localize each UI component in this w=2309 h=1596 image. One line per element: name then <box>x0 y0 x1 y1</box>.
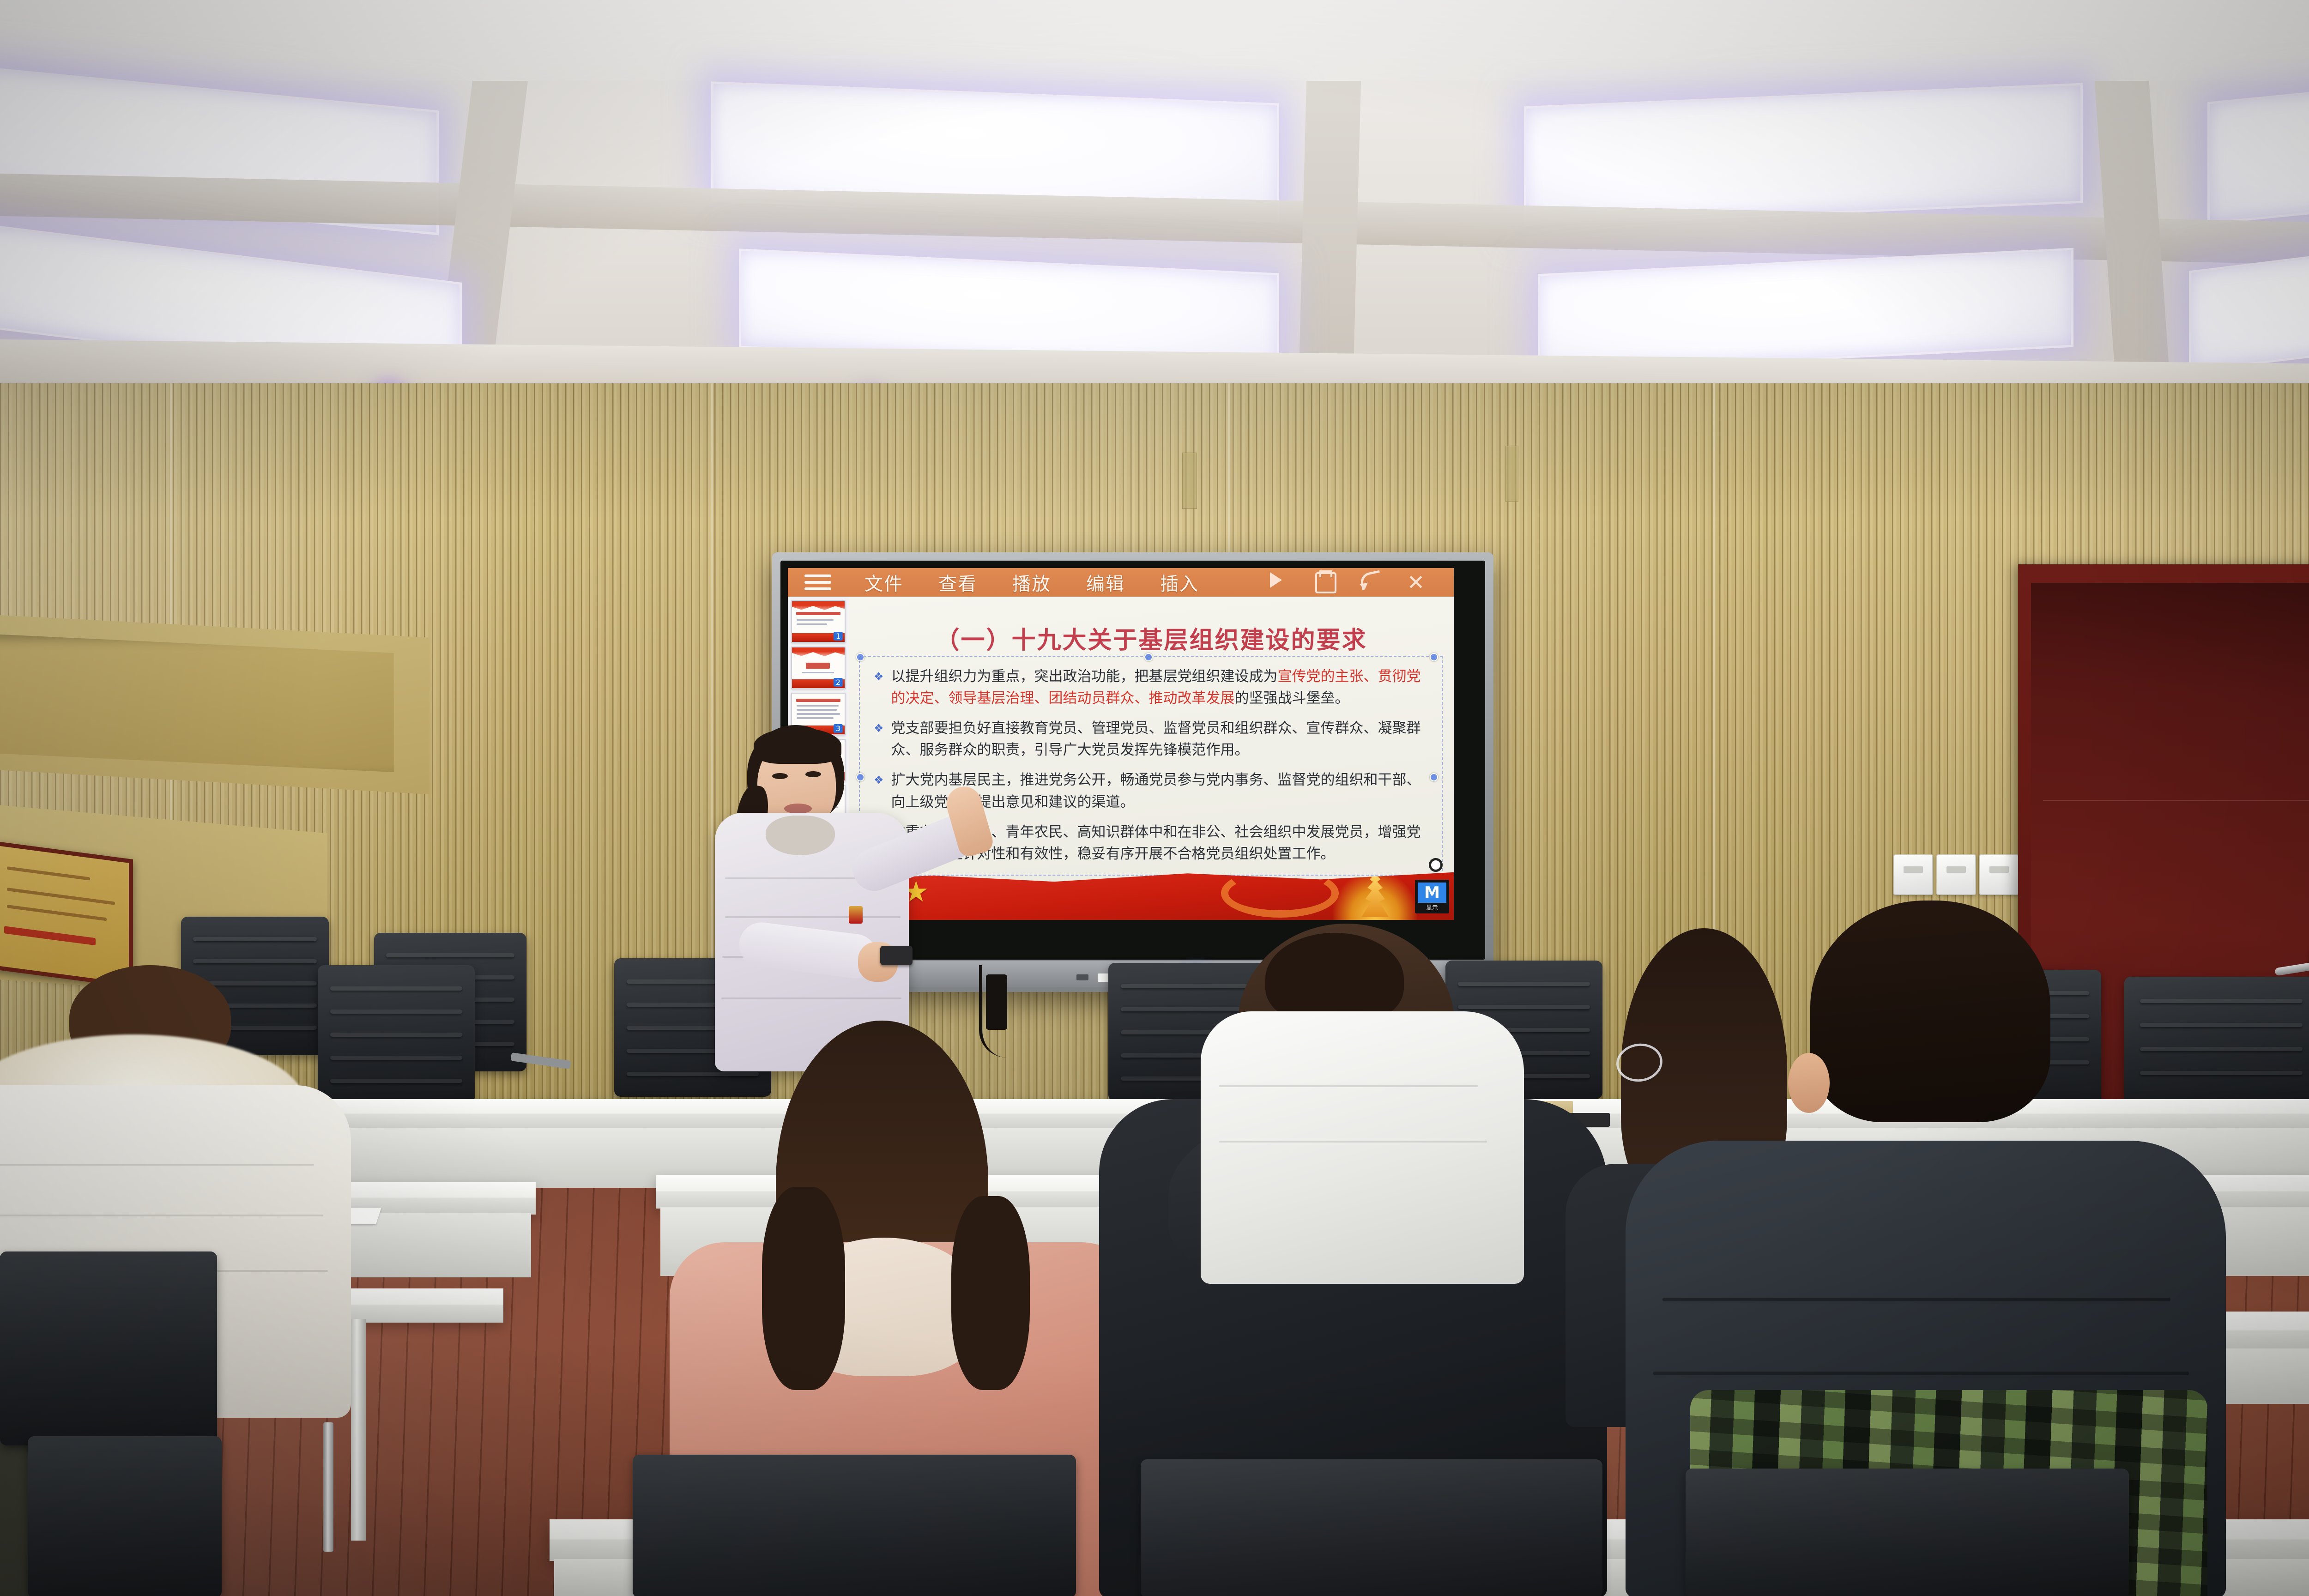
ppt-toolbar: 文件 查看 播放 编辑 插入 ✕ <box>788 568 1454 597</box>
ceiling <box>0 0 2309 406</box>
slide-thumbnail-number: 2 <box>834 678 843 687</box>
selection-handle-tr[interactable] <box>1430 653 1438 661</box>
menu-play[interactable]: 播放 <box>995 569 1069 596</box>
plaque-line-1 <box>7 866 90 881</box>
chair-backrest <box>0 1251 217 1445</box>
presenter-speaking <box>711 725 910 1067</box>
ceiling-flat-band <box>0 0 2309 81</box>
bullet-glyph: ❖ <box>874 666 884 687</box>
party-emblem-pin <box>849 906 863 924</box>
slide-thumbnail-number: 1 <box>834 632 843 641</box>
attendee-white-puffer <box>1201 933 1524 1284</box>
m-icon: M <box>1418 883 1446 903</box>
chair-foreground-center[interactable] <box>633 1455 1076 1596</box>
gold-ribbon-arc <box>1221 869 1339 918</box>
bullet-text-pre: 以提升组织力为重点，突出政治功能，把基层党组织建设成为 <box>891 668 1278 685</box>
ppt-toolbar-actions: ✕ <box>1270 572 1454 592</box>
menu-file[interactable]: 文件 <box>847 569 921 596</box>
display-widget-caption: 显示 <box>1418 903 1446 912</box>
slide-title: （一）十九大关于基层组织建设的要求 <box>849 621 1454 655</box>
slide-canvas[interactable]: （一）十九大关于基层组织建设的要求 ❖ 以提升组织力为重点，突出政治功能，把基层… <box>849 597 1454 920</box>
plaque-line-3 <box>7 905 107 921</box>
corner-dot-marker <box>1429 858 1443 872</box>
conference-room-photo: 文件 查看 播放 编辑 插入 ✕ <box>0 0 2309 1596</box>
undo-icon[interactable] <box>1360 572 1381 592</box>
desk-leg-chrome <box>323 1422 333 1552</box>
slide-bullet: ❖ 以提升组织力为重点，突出政治功能，把基层党组织建设成为宣传党的主张、贯彻党的… <box>874 666 1432 709</box>
door-panel-line <box>2043 800 2309 801</box>
attendee-hair <box>1810 901 2050 1122</box>
slide-thumbnail[interactable]: 2 <box>791 647 846 689</box>
chair-backrest <box>28 1436 222 1596</box>
presenter-eye-left <box>772 773 788 779</box>
bullet-text-post: 的坚强战斗堡垒。 <box>1235 690 1349 707</box>
presenter-mouth <box>784 804 812 814</box>
close-icon[interactable]: ✕ <box>1406 572 1426 592</box>
wall-alcove-recess-upper <box>0 634 411 772</box>
presenter-collar <box>766 816 835 855</box>
plaque-line-2 <box>7 888 115 905</box>
display-widget-badge[interactable]: M 显示 <box>1415 880 1449 913</box>
ceiling-light-panel-3 <box>1524 83 2083 227</box>
slide-bullet: ❖ 党支部要担负好直接教育党员、管理党员、监督党员和组织群众、宣传群众、凝聚群众… <box>874 718 1432 761</box>
attendee-hair-over-shoulder <box>762 1187 845 1390</box>
selection-handle-tc[interactable] <box>1144 653 1153 661</box>
play-icon[interactable] <box>1270 572 1290 592</box>
chair-backrest <box>1686 1469 2129 1596</box>
bullet-text: 以提升组织力为重点，突出政治功能，把基层党组织建设成为宣传党的主张、贯彻党的决定… <box>891 666 1432 709</box>
presenter-hair-front <box>754 728 841 764</box>
chair-foreground-center-2[interactable] <box>1141 1459 1602 1596</box>
menu-edit[interactable]: 编辑 <box>1069 569 1142 596</box>
ceiling-light-panel-7 <box>1538 248 2073 374</box>
chair-foreground-right[interactable] <box>1686 1469 2129 1596</box>
save-icon[interactable] <box>1315 572 1336 592</box>
light-switch-3[interactable] <box>1979 854 2019 895</box>
chair-backrest <box>633 1455 1076 1596</box>
light-switch-2[interactable] <box>1936 854 1976 895</box>
plaque-red-band <box>4 926 96 945</box>
menu-insert[interactable]: 插入 <box>1142 569 1216 596</box>
wall-jack-left <box>1182 453 1197 509</box>
chair-backrest <box>1141 1459 1602 1596</box>
menu-icon[interactable] <box>804 574 831 590</box>
light-switch-1[interactable] <box>1893 854 1933 895</box>
attendee-ear <box>1788 1053 1830 1113</box>
light-switch-panel[interactable] <box>1893 854 2019 895</box>
presenter-eye-right <box>805 771 821 777</box>
chair-middle-left[interactable] <box>28 1436 222 1596</box>
ceiling-beam-vert-3 <box>2095 81 2172 404</box>
ppt-menubar: 文件 查看 播放 编辑 插入 <box>847 569 1216 596</box>
door-handle-lever[interactable] <box>2274 962 2309 976</box>
menu-view[interactable]: 查看 <box>921 569 995 596</box>
attendee-puffer <box>1201 1011 1524 1284</box>
selection-handle-tl[interactable] <box>856 653 864 661</box>
bullet-text: 党支部要担负好直接教育党员、管理党员、监督党员和组织群众、宣传群众、凝聚群众、服… <box>891 718 1432 761</box>
wall-jack-mid <box>1505 446 1518 502</box>
ceiling-light-panel-4 <box>2207 73 2309 224</box>
slide-thumbnail[interactable]: 1 <box>791 600 846 643</box>
presentation-clicker[interactable] <box>880 946 913 965</box>
tiananmen-gold-graphic <box>1333 871 1417 920</box>
attendee-hair-over-shoulder-right <box>951 1196 1030 1390</box>
